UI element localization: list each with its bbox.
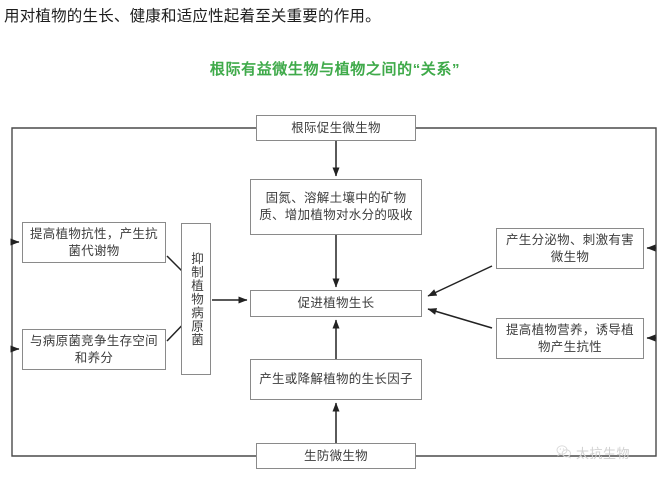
outer-right-loop [416, 128, 656, 456]
node-label: 固氮、溶解土壤中的矿物质、增加植物对水分的吸收 [255, 190, 417, 224]
watermark-label: 太抗生物 [576, 443, 630, 462]
watermark: 太抗生物 [556, 441, 656, 463]
diagram-title: 根际有益微生物与植物之间的“关系” [0, 58, 670, 79]
outer-left-loop [12, 128, 256, 456]
node-plant-resistance[interactable]: 提高植物抗性，产生抗菌代谢物 [22, 222, 166, 263]
node-nutrient-uptake[interactable]: 固氮、溶解土壤中的矿物质、增加植物对水分的吸收 [250, 179, 422, 235]
intro-paragraph: 用对植物的生长、健康和适应性起着至关重要的作用。 [4, 4, 664, 30]
node-label: 提高植物营养，诱导植物产生抗性 [501, 322, 639, 356]
edge-secretion-to-growth [428, 266, 492, 296]
node-compete-pathogen[interactable]: 与病原菌竞争生存空间和养分 [22, 329, 166, 370]
node-label: 促进植物生长 [255, 295, 417, 312]
wechat-icon [556, 444, 572, 460]
node-label: 生防微生物 [261, 448, 411, 465]
node-rhizosphere-growth-promoting-microbes[interactable]: 根际促生微生物 [256, 115, 416, 141]
relationship-flow-diagram: 根际促生微生物 固氮、溶解土壤中的矿物质、增加植物对水分的吸收 提高植物抗性，产… [0, 100, 670, 489]
node-biocontrol-microbes[interactable]: 生防微生物 [256, 443, 416, 469]
node-label: 提高植物抗性，产生抗菌代谢物 [27, 226, 161, 260]
node-label: 产生分泌物、刺激有害微生物 [501, 232, 639, 266]
node-promote-plant-growth[interactable]: 促进植物生长 [250, 290, 422, 317]
node-improve-nutrition[interactable]: 提高植物营养，诱导植物产生抗性 [496, 318, 644, 359]
edge-nutrition-to-growth [428, 309, 492, 328]
node-label: 产生或降解植物的生长因子 [255, 371, 417, 388]
node-label: 与病原菌竞争生存空间和养分 [27, 333, 161, 367]
node-suppress-pathogen[interactable]: 抑制植物病原菌 [181, 223, 211, 375]
node-label: 抑制植物病原菌 [186, 252, 206, 347]
node-secretion-stimulate[interactable]: 产生分泌物、刺激有害微生物 [496, 228, 644, 269]
page-root: 用对植物的生长、健康和适应性起着至关重要的作用。 根际有益微生物与植物之间的“关… [0, 0, 670, 489]
node-growth-factor[interactable]: 产生或降解植物的生长因子 [250, 359, 422, 400]
node-label: 根际促生微生物 [261, 120, 411, 137]
